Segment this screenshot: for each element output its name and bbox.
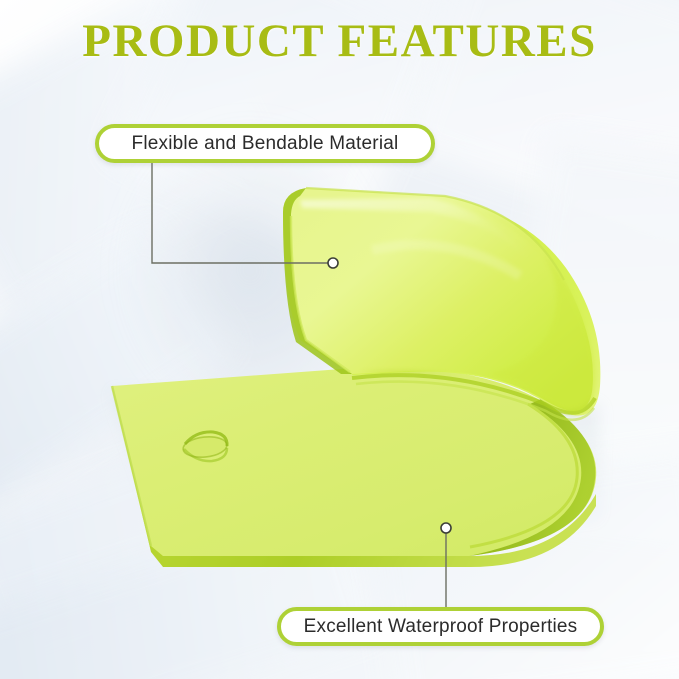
page-title: PRODUCT FEATURES — [0, 18, 679, 65]
callout-label-waterproof: Excellent Waterproof Properties — [304, 616, 578, 638]
callout-chip-flexible[interactable]: Flexible and Bendable Material — [95, 124, 435, 163]
infographic-canvas: PRODUCT FEATURES — [0, 0, 679, 679]
background-soft-glow — [120, 120, 380, 420]
callout-label-flexible: Flexible and Bendable Material — [132, 133, 399, 155]
callout-chip-waterproof[interactable]: Excellent Waterproof Properties — [277, 607, 604, 646]
